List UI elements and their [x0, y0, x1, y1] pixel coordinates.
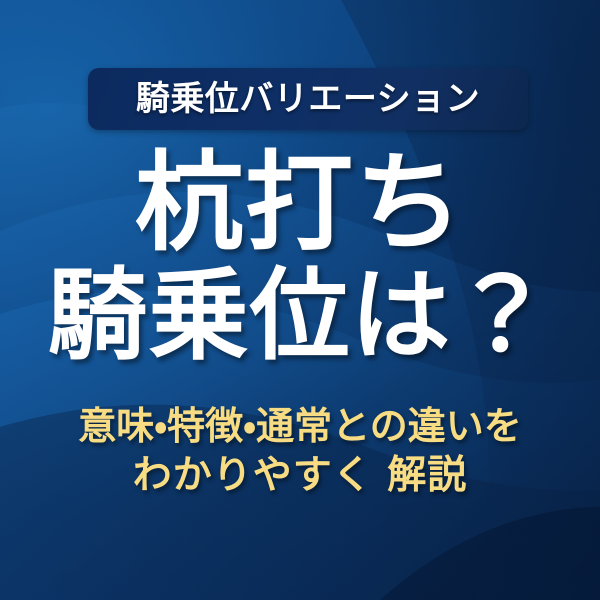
wave-bottom-right — [380, 506, 600, 600]
page-title: 杭打ち 騎乗位は？ — [0, 146, 600, 369]
page-title-line-1: 杭打ち — [0, 146, 600, 262]
category-badge: 騎乗位バリエーション — [88, 68, 528, 130]
promo-banner: 騎乗位バリエーション 杭打ち 騎乗位は？ 意味・特徴・通常との違いを わかりやす… — [0, 0, 600, 600]
page-subtitle-line-1: 意味・特徴・通常との違いを — [0, 402, 600, 451]
category-badge-label: 騎乗位バリエーション — [136, 82, 480, 116]
page-subtitle: 意味・特徴・通常との違いを わかりやすく 解説 — [0, 402, 600, 501]
page-title-line-2: 騎乗位は？ — [0, 262, 600, 369]
page-subtitle-line-2: わかりやすく 解説 — [0, 451, 600, 501]
